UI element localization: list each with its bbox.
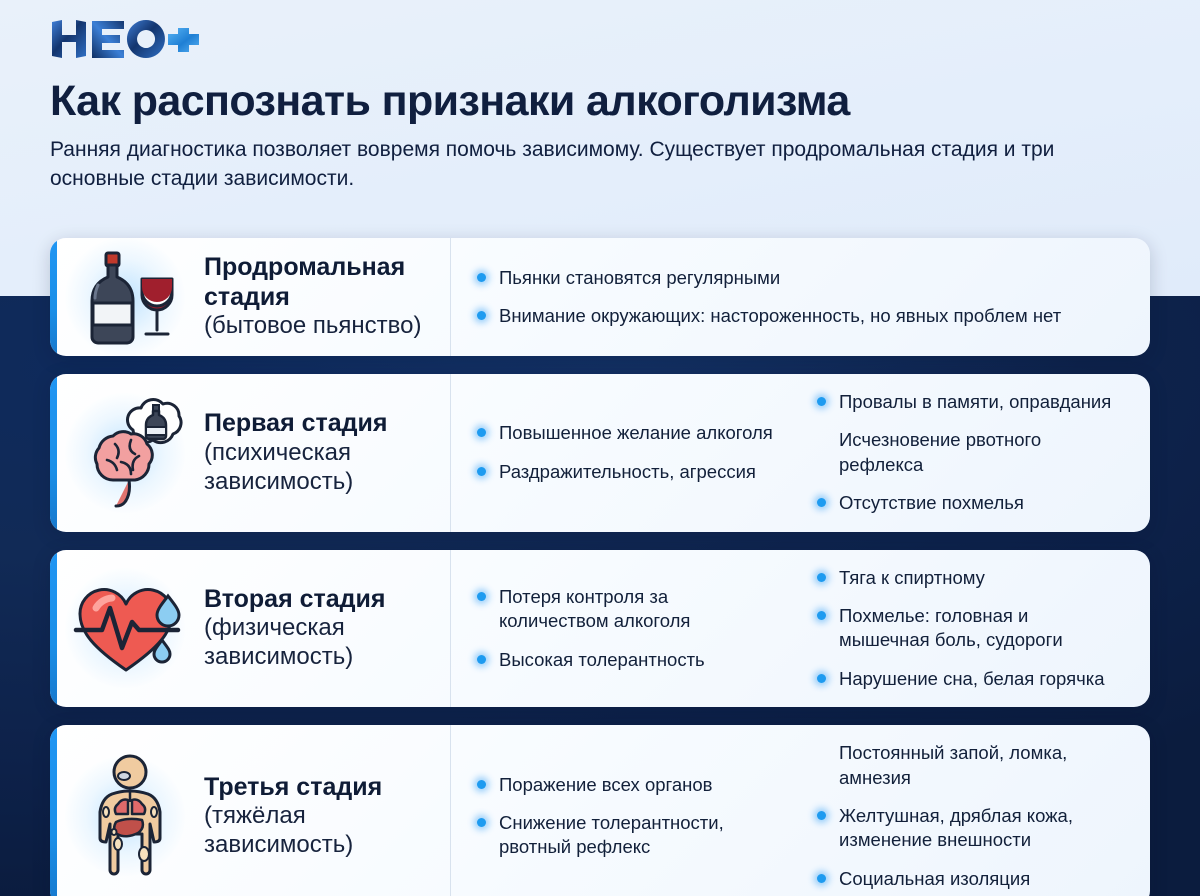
symptom-text: Раздражительность, агрессия xyxy=(499,461,756,482)
symptom-item: Постоянный запой, ломка, амнезия xyxy=(817,741,1122,790)
symptom-text: Исчезновение рвотного рефлекса xyxy=(839,429,1041,474)
stage-symptom-lists: Поражение всех органовСнижение толерантн… xyxy=(450,725,1150,896)
symptom-item: Нарушение сна, белая горячка xyxy=(817,667,1122,691)
bullet-dot-icon xyxy=(477,818,486,827)
bullet-dot-icon xyxy=(817,611,826,620)
stage-icon-container xyxy=(50,374,200,532)
symptom-item: Внимание окружающих: настороженность, но… xyxy=(477,304,1122,328)
brand-logo xyxy=(50,18,1150,62)
symptom-item: Повышенное желание алкоголя xyxy=(477,421,777,445)
stage-title-container: Третья стадия(тяжёлая зависимость) xyxy=(200,725,450,896)
symptom-item: Раздражительность, агрессия xyxy=(477,460,777,484)
symptom-text: Пьянки становятся регулярными xyxy=(499,267,780,288)
symptom-column: Тяга к спиртномуПохмелье: головная и мыш… xyxy=(791,566,1136,692)
symptom-item: Провалы в памяти, оправдания xyxy=(817,390,1122,414)
wine-bottle-and-glass-icon xyxy=(78,249,182,345)
stage-card: Продромальная стадия(бытовое пьянство)Пь… xyxy=(50,238,1150,356)
symptom-item: Высокая толерантность xyxy=(477,648,777,672)
stage-name: Продромальная стадия xyxy=(204,253,432,312)
symptom-column: Повышенное желание алкоголяРаздражительн… xyxy=(451,421,791,484)
bullet-dot-icon xyxy=(477,311,486,320)
stage-card: Третья стадия(тяжёлая зависимость)Пораже… xyxy=(50,725,1150,896)
symptom-text: Поражение всех органов xyxy=(499,774,713,795)
stage-subtitle: (психическая зависимость) xyxy=(204,439,432,497)
stage-icon-container xyxy=(50,725,200,896)
symptom-column: Провалы в памяти, оправданияИсчезновение… xyxy=(791,390,1136,516)
symptom-column: Потеря контроля за количеством алкоголяВ… xyxy=(451,585,791,672)
neo-plus-logo-icon xyxy=(50,18,200,62)
stage-subtitle: (тяжёлая зависимость) xyxy=(204,802,432,860)
symptom-item: Поражение всех органов xyxy=(477,773,777,797)
symptom-item: Желтушная, дряблая кожа, изменение внешн… xyxy=(817,804,1122,853)
bullet-dot-icon xyxy=(817,674,826,683)
symptom-item: Тяга к спиртному xyxy=(817,566,1122,590)
stages-card-list: Продромальная стадия(бытовое пьянство)Пь… xyxy=(50,238,1150,896)
symptom-column: Поражение всех органовСнижение толерантн… xyxy=(451,773,791,860)
bullet-dot-icon xyxy=(477,655,486,664)
stage-title-container: Вторая стадия(физическая зависимость) xyxy=(200,550,450,708)
heart-with-pulse-icon xyxy=(72,578,188,678)
stage-symptom-lists: Повышенное желание алкоголяРаздражительн… xyxy=(450,374,1150,532)
symptom-text: Потеря контроля за количеством алкоголя xyxy=(499,586,690,631)
symptom-text: Высокая толерантность xyxy=(499,649,705,670)
page-title: Как распознать признаки алкоголизма xyxy=(50,78,1150,124)
human-body-organs-icon xyxy=(78,754,182,878)
stage-subtitle: (бытовое пьянство) xyxy=(204,312,432,341)
bullet-dot-icon xyxy=(817,811,826,820)
bullet-dot-icon xyxy=(817,397,826,406)
page-subtitle: Ранняя диагностика позволяет вовремя пом… xyxy=(50,136,1110,194)
symptom-item: Пьянки становятся регулярными xyxy=(477,266,1122,290)
stage-symptom-lists: Потеря контроля за количеством алкоголяВ… xyxy=(450,550,1150,708)
stage-card: Вторая стадия(физическая зависимость)Пот… xyxy=(50,550,1150,708)
stage-name: Вторая стадия xyxy=(204,585,432,615)
page-header: Как распознать признаки алкоголизма Ранн… xyxy=(0,0,1200,194)
symptom-item: Похмелье: головная и мышечная боль, судо… xyxy=(817,604,1122,653)
symptom-text: Снижение толерантности, рвотный рефлекс xyxy=(499,812,724,857)
symptom-text: Внимание окружающих: настороженность, но… xyxy=(499,305,1061,326)
bullet-dot-icon xyxy=(477,428,486,437)
brain-with-bottle-thought-icon xyxy=(71,398,189,508)
bullet-dot-icon xyxy=(477,592,486,601)
stage-title-container: Продромальная стадия(бытовое пьянство) xyxy=(200,238,450,356)
symptom-item: Исчезновение рвотного рефлекса xyxy=(817,428,1122,477)
symptom-text: Отсутствие похмелья xyxy=(839,492,1024,513)
stage-symptom-lists: Пьянки становятся регулярнымиВнимание ок… xyxy=(450,238,1150,356)
symptom-item: Потеря контроля за количеством алкоголя xyxy=(477,585,777,634)
symptom-text: Похмелье: головная и мышечная боль, судо… xyxy=(839,605,1063,650)
bullet-dot-icon xyxy=(817,874,826,883)
stage-name: Первая стадия xyxy=(204,409,432,439)
symptom-text: Тяга к спиртному xyxy=(839,567,985,588)
bullet-dot-icon xyxy=(477,467,486,476)
bullet-dot-icon xyxy=(817,498,826,507)
symptom-text: Желтушная, дряблая кожа, изменение внешн… xyxy=(839,805,1073,850)
stage-subtitle: (физическая зависимость) xyxy=(204,614,432,672)
stage-title-container: Первая стадия(психическая зависимость) xyxy=(200,374,450,532)
bullet-dot-icon xyxy=(477,780,486,789)
stage-icon-container xyxy=(50,238,200,356)
symptom-text: Социальная изоляция xyxy=(839,868,1030,889)
symptom-column: Пьянки становятся регулярнымиВнимание ок… xyxy=(451,266,1136,329)
stage-icon-container xyxy=(50,550,200,708)
symptom-text: Нарушение сна, белая горячка xyxy=(839,668,1105,689)
symptom-item: Отсутствие похмелья xyxy=(817,491,1122,515)
symptom-item: Снижение толерантности, рвотный рефлекс xyxy=(477,811,777,860)
symptom-text: Постоянный запой, ломка, амнезия xyxy=(839,742,1067,787)
stage-card: Первая стадия(психическая зависимость)По… xyxy=(50,374,1150,532)
stage-name: Третья стадия xyxy=(204,773,432,803)
symptom-item: Социальная изоляция xyxy=(817,867,1122,891)
bullet-dot-icon xyxy=(477,273,486,282)
bullet-dot-icon xyxy=(817,573,826,582)
symptom-text: Провалы в памяти, оправдания xyxy=(839,391,1111,412)
symptom-column: Постоянный запой, ломка, амнезияЖелтушна… xyxy=(791,741,1136,891)
symptom-text: Повышенное желание алкоголя xyxy=(499,422,773,443)
